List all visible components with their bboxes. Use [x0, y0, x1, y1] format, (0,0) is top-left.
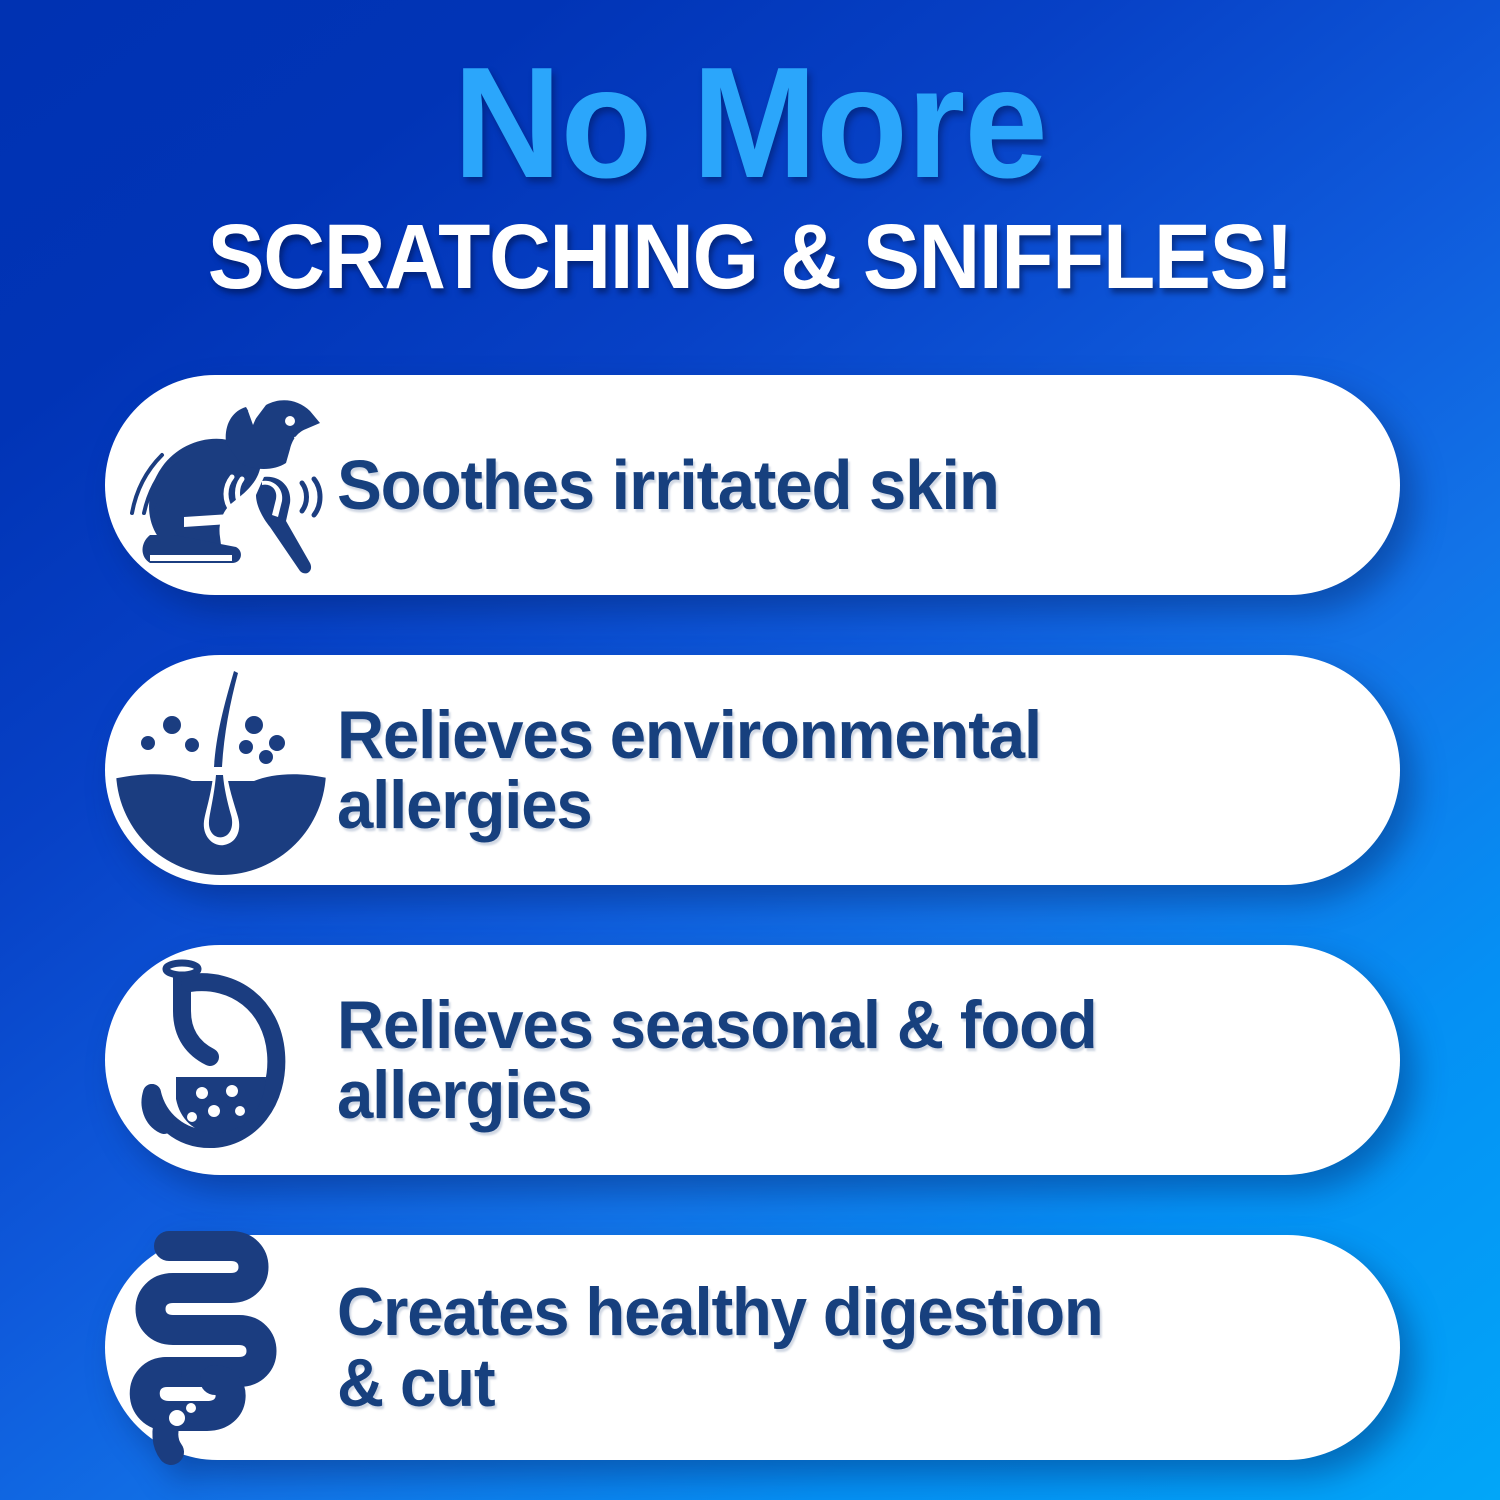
benefit-card: Creates healthy digestion & cut: [105, 1235, 1400, 1460]
benefit-text-line: Creates healthy digestion: [337, 1277, 1319, 1347]
benefit-text: Relieves seasonal & food allergies: [337, 990, 1357, 1130]
promo-poster: No More SCRATCHING & SNIFFLES!: [0, 0, 1500, 1500]
benefit-text-line: & cut: [337, 1348, 1319, 1418]
card-icon-slot: [105, 1235, 337, 1460]
benefit-card: Soothes irritated skin: [105, 375, 1400, 595]
benefit-text: Creates healthy digestion & cut: [337, 1277, 1357, 1417]
benefit-text: Relieves environmental allergies: [337, 700, 1357, 840]
benefit-text-line: Soothes irritated skin: [337, 449, 1319, 521]
headline-block: No More SCRATCHING & SNIFFLES!: [0, 0, 1500, 303]
benefit-text-line: allergies: [337, 1060, 1319, 1130]
benefit-card: Relieves environmental allergies: [105, 655, 1400, 885]
benefit-text-line: allergies: [337, 770, 1319, 840]
benefit-card: Relieves seasonal & food allergies: [105, 945, 1400, 1175]
headline-secondary: SCRATCHING & SNIFFLES!: [53, 201, 1448, 303]
card-icon-slot: [105, 945, 337, 1175]
card-icon-slot: [105, 655, 337, 885]
benefit-text-line: Relieves environmental: [337, 700, 1319, 770]
intestine-icon: [111, 1240, 331, 1455]
benefit-card-list: Soothes irritated skin: [105, 375, 1400, 1460]
benefit-text: Soothes irritated skin: [337, 449, 1357, 521]
headline-primary: No More: [38, 0, 1463, 201]
hair-follicle-skin-icon: [114, 663, 329, 878]
stomach-icon: [114, 953, 329, 1168]
benefit-text-line: Relieves seasonal & food: [337, 990, 1319, 1060]
dog-scratching-icon: [114, 385, 329, 585]
card-icon-slot: [105, 375, 337, 595]
